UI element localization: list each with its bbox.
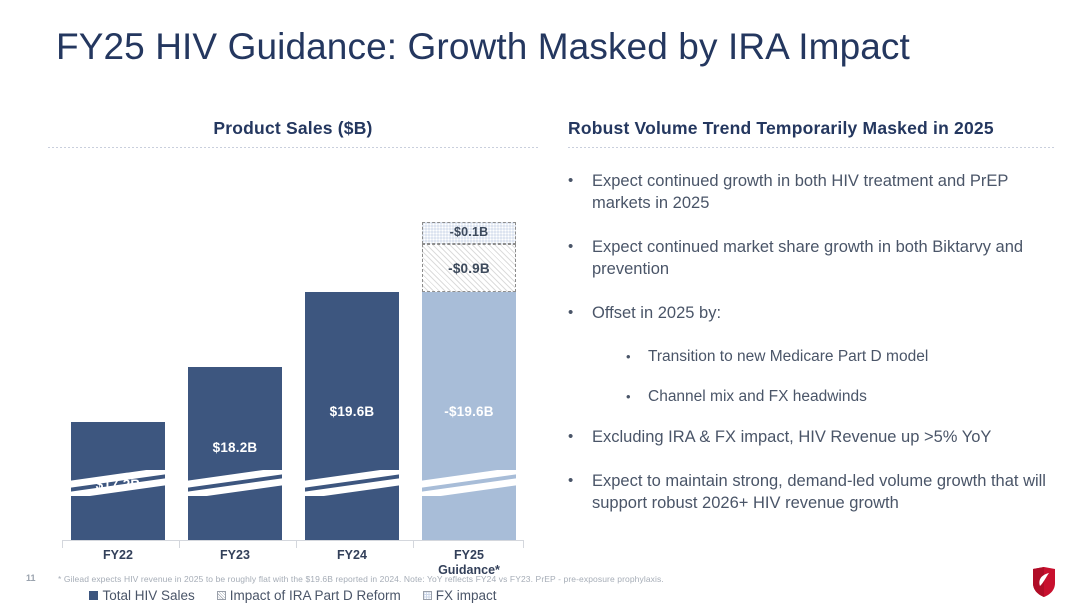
bullet-text: Expect to maintain strong, demand-led vo… [592, 470, 1056, 514]
bar-column-fy23: $18.2B [179, 170, 291, 540]
list-item: • Expect continued growth in both HIV tr… [568, 170, 1056, 214]
bullet-text: Offset in 2025 by: [592, 302, 1056, 324]
legend-item-fx-impact[interactable]: FX impact [423, 588, 497, 603]
footnote: * Gilead expects HIV revenue in 2025 to … [58, 573, 918, 585]
bar-fy24[interactable]: $19.6B [305, 292, 399, 540]
gilead-shield-logo [1031, 566, 1057, 598]
bullet-dot-icon: • [626, 346, 648, 368]
bullet-list: • Expect continued growth in both HIV tr… [568, 170, 1056, 514]
x-axis-tick [296, 541, 297, 548]
page-title: FY25 HIV Guidance: Growth Masked by IRA … [56, 26, 1016, 68]
bar-value-label-fy24: $19.6B [305, 404, 399, 419]
legend-swatch-hatch-icon [217, 591, 226, 600]
bullet-dot-icon: • [568, 470, 592, 514]
list-item: • Offset in 2025 by: [568, 302, 1056, 324]
plot-area: $17.2B $18.2B $19.6B [62, 170, 524, 540]
slide: FY25 HIV Guidance: Growth Masked by IRA … [0, 0, 1080, 608]
x-axis-tick [413, 541, 414, 548]
commentary-title: Robust Volume Trend Temporarily Masked i… [568, 118, 1056, 139]
legend-item-total-hiv-sales[interactable]: Total HIV Sales [89, 588, 194, 603]
x-axis-label-fy22: FY22 [62, 548, 174, 563]
commentary-panel: Robust Volume Trend Temporarily Masked i… [568, 118, 1056, 536]
legend-label: Total HIV Sales [102, 588, 194, 603]
x-axis-tick [179, 541, 180, 548]
list-item-sub: • Channel mix and FX headwinds [626, 386, 1056, 408]
commentary-title-divider [568, 147, 1056, 148]
bar-fy22[interactable]: $17.2B [71, 422, 165, 540]
bar-value-label-fy22: $17.2B [71, 477, 165, 492]
bar-fy25-guidance[interactable]: -$19.6B -$0.9B -$0.1B [422, 230, 516, 540]
x-axis-label-line1: FY24 [296, 548, 408, 563]
chart-title: Product Sales ($B) [48, 118, 538, 139]
bullet-dot-icon: • [568, 170, 592, 214]
x-axis-label-line1: FY23 [179, 548, 291, 563]
legend-swatch-solid-icon [89, 591, 98, 600]
chart-panel: Product Sales ($B) $17.2B $18.2B [48, 118, 538, 558]
legend-label: Impact of IRA Part D Reform [230, 588, 401, 603]
x-axis-line [62, 540, 524, 541]
bar-value-label-fy23: $18.2B [188, 440, 282, 455]
page-number: 11 [26, 573, 36, 583]
list-item: • Expect continued market share growth i… [568, 236, 1056, 280]
bar-value-label-fy25-base: -$19.6B [422, 404, 516, 419]
bullet-text: Expect continued growth in both HIV trea… [592, 170, 1056, 214]
bar-value-label-fx-impact: -$0.1B [422, 225, 516, 239]
bullet-dot-icon: • [568, 426, 592, 448]
bullet-dot-icon: • [568, 302, 592, 324]
legend-swatch-dots-icon [423, 591, 432, 600]
list-item-sub: • Transition to new Medicare Part D mode… [626, 346, 1056, 368]
chart-legend: Total HIV Sales Impact of IRA Part D Ref… [48, 588, 538, 603]
bar-fy23[interactable]: $18.2B [188, 367, 282, 540]
legend-item-ira-part-d-reform[interactable]: Impact of IRA Part D Reform [217, 588, 401, 603]
list-item: • Excluding IRA & FX impact, HIV Revenue… [568, 426, 1056, 448]
bar-value-label-ira-impact: -$0.9B [422, 261, 516, 276]
x-axis-label-fy23: FY23 [179, 548, 291, 563]
bar-column-fy25-guidance: -$19.6B -$0.9B -$0.1B [413, 170, 525, 540]
x-axis-label-fy24: FY24 [296, 548, 408, 563]
bullet-text: Excluding IRA & FX impact, HIV Revenue u… [592, 426, 1056, 448]
bullet-dot-icon: • [568, 236, 592, 280]
legend-label: FX impact [436, 588, 497, 603]
x-axis-tick [62, 541, 63, 548]
bullet-text: Transition to new Medicare Part D model [648, 346, 1056, 368]
bullet-text: Channel mix and FX headwinds [648, 386, 1056, 408]
chart-title-divider [48, 147, 538, 148]
x-axis-label-line1: FY22 [62, 548, 174, 563]
bullet-text: Expect continued market share growth in … [592, 236, 1056, 280]
x-axis-label-line1: FY25 [413, 548, 525, 563]
bullet-dot-icon: • [626, 386, 648, 408]
bar-column-fy22: $17.2B [62, 170, 174, 540]
x-axis-tick [523, 541, 524, 548]
list-item: • Expect to maintain strong, demand-led … [568, 470, 1056, 514]
bar-chart: $17.2B $18.2B $19.6B [48, 170, 538, 560]
bar-column-fy24: $19.6B [296, 170, 408, 540]
